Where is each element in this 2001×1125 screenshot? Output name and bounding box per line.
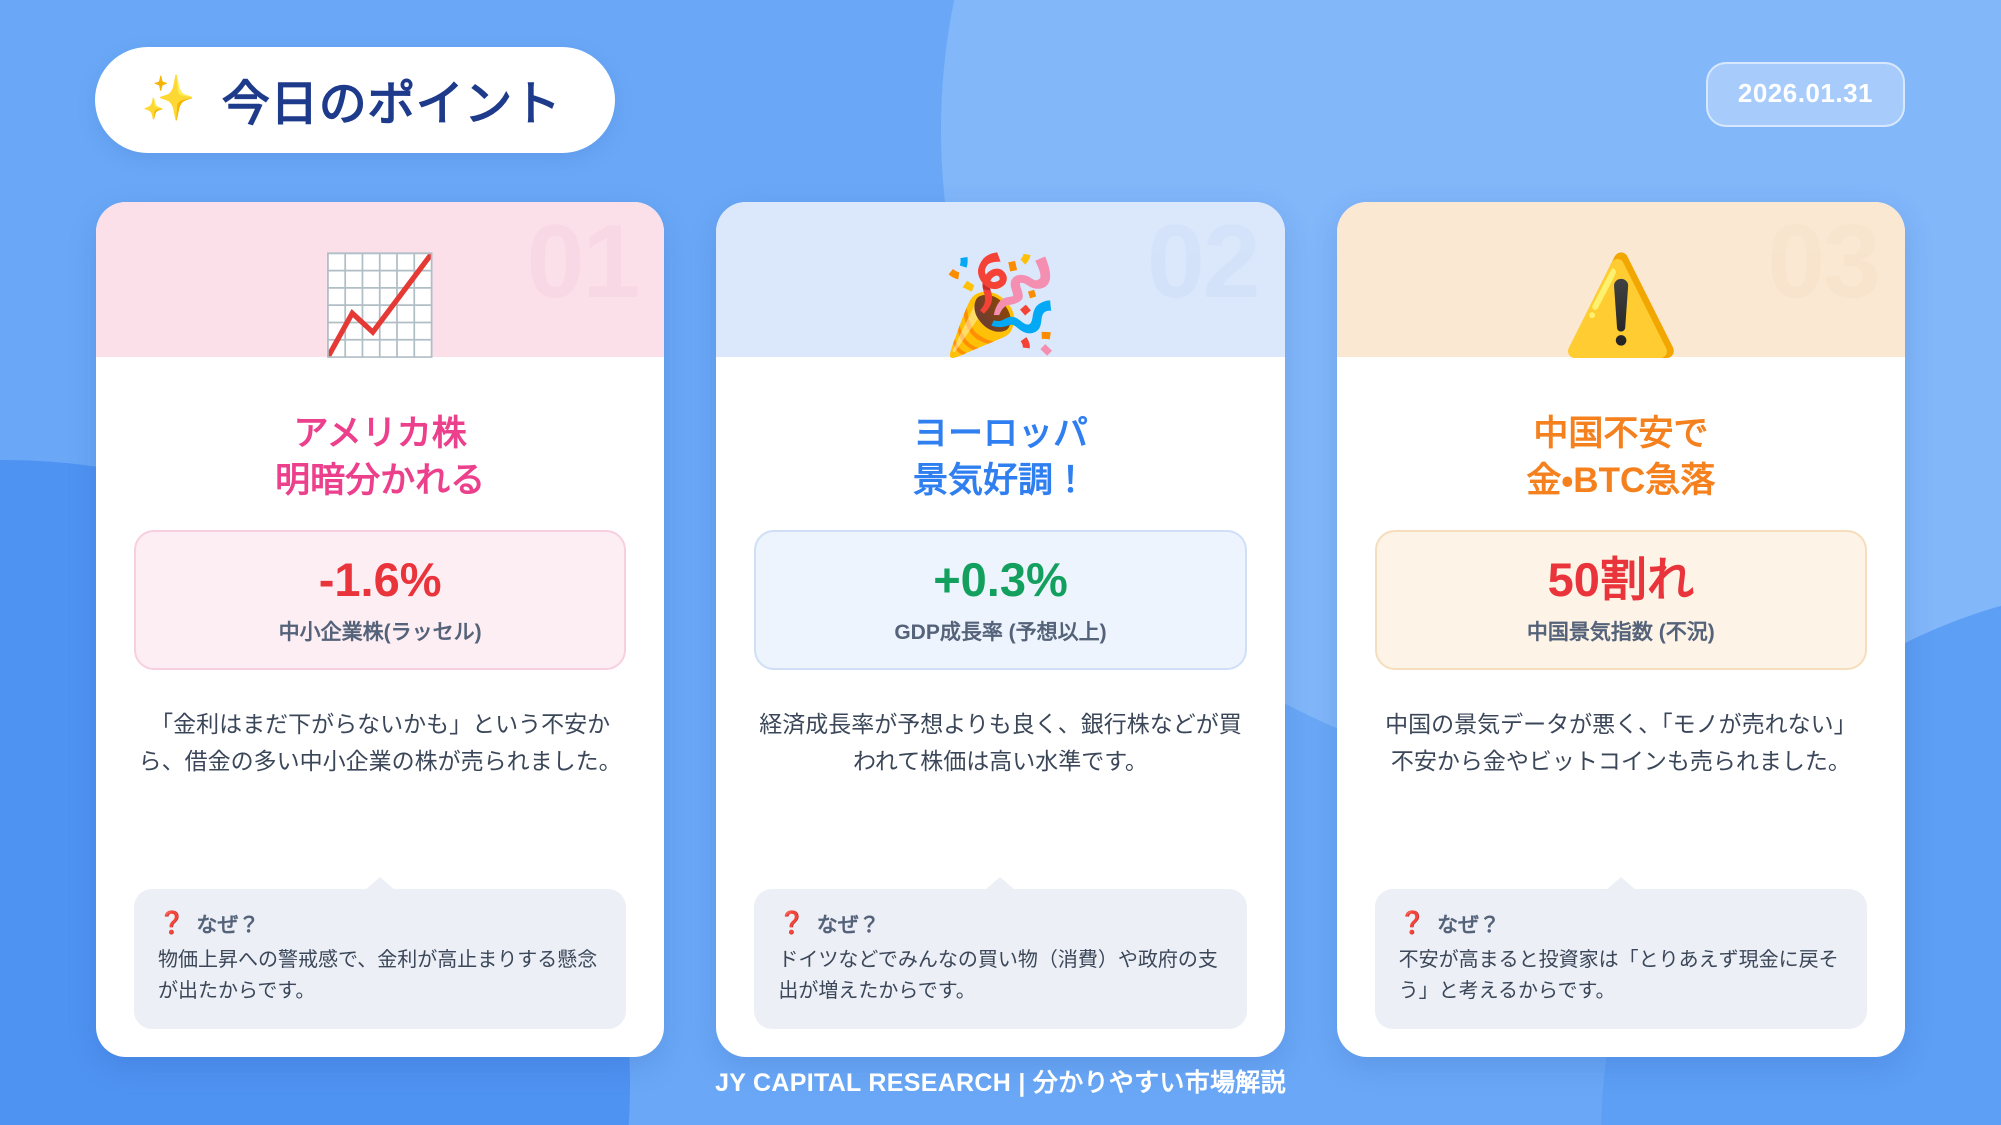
why-text-03: 不安が高まると投資家は「とりあえず現金に戻そう」と考えるからです。 (1399, 945, 1843, 1007)
cards-container: 01 📈 アメリカ株 明暗分かれる -1.6% 中小企業株(ラッセル) 「金利は… (96, 202, 1905, 1057)
footer-branding: JY CAPITAL RESEARCH | 分かりやすい市場解説 (0, 1063, 2001, 1099)
metric-label-02: GDP成長率 (予想以上) (766, 616, 1234, 646)
card-header-01: 01 📈 (96, 202, 664, 357)
point-card-02[interactable]: 02 🎉 ヨーロッパ 景気好調！ +0.3% GDP成長率 (予想以上) 経済成… (716, 202, 1284, 1057)
chart-increasing-emoji: 📈 (96, 257, 664, 353)
metric-box-03: 50割れ 中国景気指数 (不況) (1375, 530, 1867, 670)
why-header-01: ❓ なぜ？ (158, 909, 602, 939)
metric-value-01: -1.6% (146, 554, 614, 606)
party-popper-emoji: 🎉 (716, 257, 1284, 353)
date-badge: 2026.01.31 (1706, 62, 1905, 127)
point-card-01[interactable]: 01 📈 アメリカ株 明暗分かれる -1.6% 中小企業株(ラッセル) 「金利は… (96, 202, 664, 1057)
card-body-03: 中国不安で 金・BTC急落 50割れ 中国景気指数 (不況) 中国の景気データが… (1337, 357, 1905, 1057)
card-title-02: ヨーロッパ 景気好調！ (754, 411, 1246, 504)
why-header-03: ❓ なぜ？ (1399, 909, 1843, 939)
point-card-03[interactable]: 03 ⚠️ 中国不安で 金・BTC急落 50割れ 中国景気指数 (不況) 中国の… (1337, 202, 1905, 1057)
infographic-page: ✨ 今日のポイント 2026.01.31 01 📈 アメリカ株 明暗分かれる -… (0, 0, 2001, 1125)
sparkles-icon: ✨ (141, 77, 196, 121)
why-label-03: なぜ？ (1437, 909, 1500, 939)
card-body-02: ヨーロッパ 景気好調！ +0.3% GDP成長率 (予想以上) 経済成長率が予想… (716, 357, 1284, 1057)
card-description-01: 「金利はまだ下がらないかも」という不安から、借金の多い中小企業の株が売られました… (134, 706, 626, 781)
question-mark-icon: ❓ (158, 913, 185, 935)
card-header-03: 03 ⚠️ (1337, 202, 1905, 357)
card-description-02: 経済成長率が予想よりも良く、銀行株などが買われて株価は高い水準です。 (754, 706, 1246, 781)
metric-box-02: +0.3% GDP成長率 (予想以上) (754, 530, 1246, 670)
why-box-01: ❓ なぜ？ 物価上昇への警戒感で、金利が高止まりする懸念が出たからです。 (134, 889, 626, 1029)
why-label-01: なぜ？ (196, 909, 259, 939)
page-title: 今日のポイント (222, 64, 562, 134)
card-description-03: 中国の景気データが悪く、「モノが売れない」不安から金やビットコインも売られました… (1375, 706, 1867, 781)
metric-label-03: 中国景気指数 (不況) (1387, 616, 1855, 646)
question-mark-icon: ❓ (1399, 913, 1426, 935)
card-title-03: 中国不安で 金・BTC急落 (1375, 411, 1867, 504)
warning-emoji: ⚠️ (1337, 257, 1905, 353)
metric-value-02: +0.3% (766, 554, 1234, 606)
metric-value-03: 50割れ (1387, 554, 1855, 606)
page-header: ✨ 今日のポイント 2026.01.31 (0, 40, 2001, 140)
card-header-02: 02 🎉 (716, 202, 1284, 357)
why-box-02: ❓ なぜ？ ドイツなどでみんなの買い物（消費）や政府の支出が増えたからです。 (754, 889, 1246, 1029)
why-header-02: ❓ なぜ？ (778, 909, 1222, 939)
why-text-02: ドイツなどでみんなの買い物（消費）や政府の支出が増えたからです。 (778, 945, 1222, 1007)
why-box-03: ❓ なぜ？ 不安が高まると投資家は「とりあえず現金に戻そう」と考えるからです。 (1375, 889, 1867, 1029)
card-title-01: アメリカ株 明暗分かれる (134, 411, 626, 504)
why-label-02: なぜ？ (817, 909, 880, 939)
card-body-01: アメリカ株 明暗分かれる -1.6% 中小企業株(ラッセル) 「金利はまだ下がら… (96, 357, 664, 1057)
why-text-01: 物価上昇への警戒感で、金利が高止まりする懸念が出たからです。 (158, 945, 602, 1007)
metric-label-01: 中小企業株(ラッセル) (146, 616, 614, 646)
page-title-badge: ✨ 今日のポイント (95, 47, 615, 153)
metric-box-01: -1.6% 中小企業株(ラッセル) (134, 530, 626, 670)
question-mark-icon: ❓ (778, 913, 805, 935)
